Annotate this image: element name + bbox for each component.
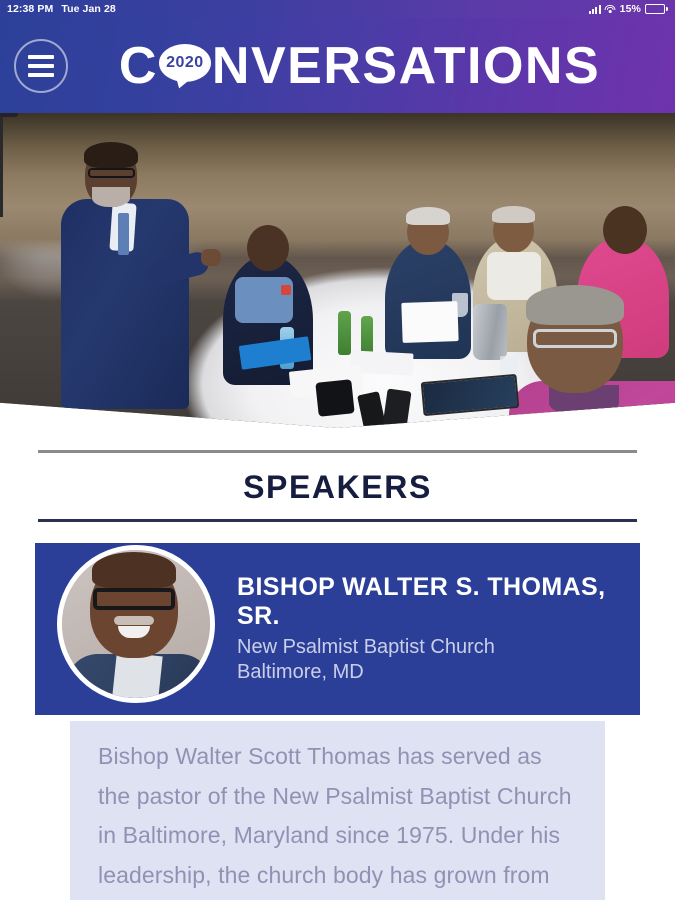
speakers-section: SPEAKERS [0, 428, 675, 522]
section-divider-bottom [38, 519, 637, 522]
battery-percent-label: 15% [620, 3, 641, 15]
status-bar-right: 15% [589, 3, 668, 15]
speaker-entry[interactable]: BISHOP WALTER S. THOMAS, SR. New Psalmis… [35, 543, 640, 900]
speaker-card[interactable]: BISHOP WALTER S. THOMAS, SR. New Psalmis… [35, 543, 640, 715]
foreground-attendee-figure [509, 289, 675, 428]
table-carafe [473, 304, 507, 360]
page-title: SPEAKERS [38, 453, 637, 519]
speech-bubble-icon: 2020 [159, 44, 211, 88]
speaker-bio: Bishop Walter Scott Thomas has served as… [70, 721, 605, 900]
status-bar: 12:38 PM Tue Jan 28 15% [0, 0, 675, 18]
hero-photo-backdrop [0, 113, 675, 428]
brand-text-trailing: NVERSATIONS [212, 40, 600, 92]
table-tablet [421, 373, 520, 415]
brand-year-label: 2020 [159, 44, 211, 82]
status-time: 12:38 PM [7, 3, 53, 15]
camera-tripod [0, 113, 3, 217]
brand-logo[interactable]: C 2020 NVERSATIONS [58, 40, 675, 92]
speaker-name: BISHOP WALTER S. THOMAS, SR. [237, 573, 624, 630]
brand-wordmark: C 2020 NVERSATIONS [119, 40, 600, 92]
app-screen: 12:38 PM Tue Jan 28 15% C [0, 0, 675, 900]
avatar [57, 545, 215, 703]
table-paper [401, 301, 458, 343]
status-bar-left: 12:38 PM Tue Jan 28 [7, 3, 116, 15]
presenter-figure [61, 145, 191, 410]
cellular-signal-icon [589, 5, 601, 14]
table-phone [382, 389, 411, 428]
table-bottle [338, 311, 351, 355]
speaker-location: Baltimore, MD [237, 660, 624, 685]
battery-icon [645, 4, 668, 14]
wifi-icon [605, 5, 616, 14]
speaker-details: BISHOP WALTER S. THOMAS, SR. New Psalmis… [215, 573, 624, 685]
table-camera [316, 379, 355, 417]
brand-text-leading: C [119, 40, 158, 92]
hero-banner-image [0, 113, 675, 428]
speaker-organization: New Psalmist Baptist Church [237, 635, 624, 660]
app-header: C 2020 NVERSATIONS [0, 18, 675, 113]
status-date: Tue Jan 28 [61, 3, 116, 15]
